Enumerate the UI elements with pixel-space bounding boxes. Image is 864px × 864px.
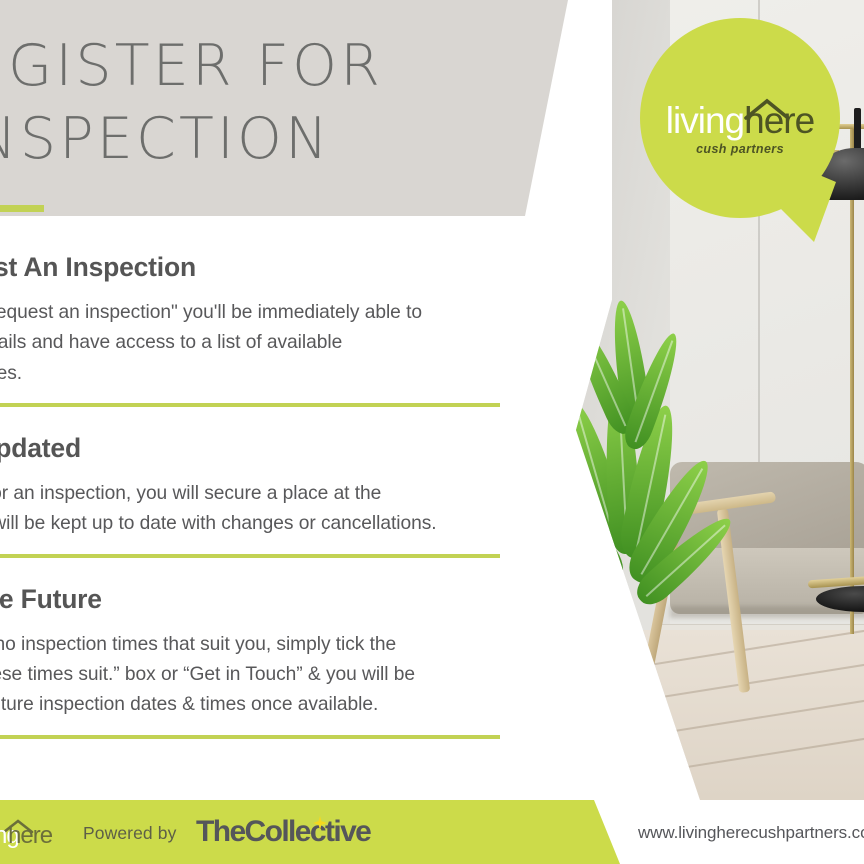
brand-word-living: living — [666, 100, 744, 141]
sparkle-icon — [313, 816, 327, 830]
brand-tagline: cush partners — [640, 142, 840, 156]
brand-wordmark: livinghere — [640, 102, 840, 139]
content-sections: Request An Inspection By clicking "Reque… — [0, 252, 520, 739]
photo-timber-floor — [580, 630, 864, 800]
page-title-line2: INSPECTION — [0, 103, 626, 176]
powered-by-label: Powered by — [83, 823, 176, 844]
page-title: REGISTER FORINSPECTION — [0, 30, 626, 176]
partner-wordmark: TheCollective — [196, 815, 370, 849]
page-title-line1: REGISTER FOR — [0, 33, 383, 99]
section-keep-me-informed: Keep Me Informed For The Future If there… — [0, 584, 520, 739]
website-url[interactable]: www.livingherecushpartners.com.au — [638, 823, 864, 843]
section-heading: Stay Updated — [0, 433, 520, 464]
section-body: By registering for an inspection, you wi… — [0, 479, 520, 540]
section-divider — [0, 403, 500, 407]
section-request-an-inspection: Request An Inspection By clicking "Reque… — [0, 252, 520, 407]
section-body: By clicking "Request an inspection" you'… — [0, 298, 520, 389]
section-divider — [0, 735, 500, 739]
footer-brand-logo[interactable]: living here — [0, 818, 80, 850]
title-accent-bar — [0, 205, 44, 212]
section-heading: Request An Inspection — [0, 252, 520, 283]
section-divider — [0, 554, 500, 558]
brand-logo[interactable]: livinghere cush partners — [640, 18, 840, 218]
marketing-slide: REGISTER FORINSPECTION — [0, 0, 864, 864]
section-stay-updated: Stay Updated By registering for an inspe… — [0, 433, 520, 558]
section-body: If there are no inspection times that su… — [0, 630, 520, 721]
footer-brand-word-here: here — [8, 822, 52, 850]
section-heading: Keep Me Informed For The Future — [0, 584, 520, 615]
brand-word-here: here — [744, 100, 814, 141]
